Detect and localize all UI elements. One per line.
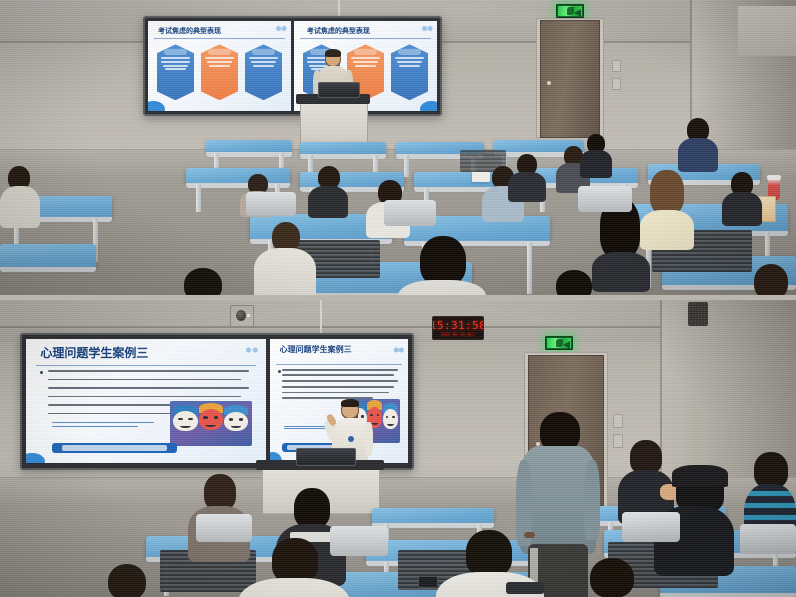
slide-screen-left-top[interactable]: 考试焦虑的典型表现 [148, 21, 291, 111]
desk-bottom-row1-a[interactable] [372, 508, 494, 524]
slide-title-right-bottom: 心理问题学生案例三 [280, 344, 352, 355]
chair-back-bottom-d [740, 524, 796, 554]
student-top-13 [722, 172, 762, 224]
phone-on-desk[interactable] [418, 576, 438, 588]
wall-outlet-2-top [612, 78, 621, 90]
student-top-2 [308, 166, 348, 214]
chair-back-top-b [384, 200, 436, 226]
photo-collage: 考试焦虑的典型表现 [0, 0, 796, 597]
student-top-7 [508, 154, 546, 200]
student-top-11 [640, 170, 694, 244]
classroom-door-top[interactable] [540, 20, 600, 138]
window-panel-top [738, 6, 796, 56]
cta-banner-left [52, 443, 177, 453]
photo-panel-bottom: 15:31:58 2025-06-10 周二 心理问题学生案例三 [0, 300, 796, 597]
hexagon-group-left-top [157, 44, 283, 100]
wall-camera-icon [230, 305, 254, 327]
photo-panel-top: 考试焦虑的典型表现 [0, 0, 796, 297]
student-top-5 [398, 236, 486, 297]
chair-back-top-c [578, 186, 632, 212]
hexagon-physio-left-top [157, 44, 195, 100]
wall-outlet-top [612, 60, 621, 72]
desk-row1-a[interactable] [206, 140, 292, 153]
slide-title-left-bottom: 心理问题学生案例三 [40, 344, 148, 361]
student-bottom-8 [570, 558, 656, 597]
exit-sign-icon-bottom [545, 336, 573, 350]
chair-back-bottom-b [330, 526, 388, 556]
clock-date: 2025-06-10 周二 [441, 333, 476, 337]
masks-illustration-left [170, 401, 252, 446]
podium-monitor-top[interactable] [318, 82, 360, 98]
student-top-14 [0, 166, 40, 226]
student-top-9 [580, 134, 612, 174]
wall-outlet-bottom [613, 414, 623, 428]
exit-sign-icon [556, 4, 584, 18]
student-top-16 [538, 270, 612, 297]
ceiling-speaker-bottom [688, 302, 708, 326]
interactive-display-top[interactable]: 考试焦虑的典型表现 [143, 16, 442, 116]
student-top-17 [744, 264, 796, 297]
digital-wall-clock: 15:31:58 2025-06-10 周二 [432, 316, 484, 340]
case-subnote-left [52, 422, 162, 437]
student-bottom-4 [436, 530, 544, 597]
desk-row2-a[interactable] [186, 168, 290, 184]
student-top-3 [254, 222, 316, 296]
podium-monitor-bottom[interactable] [296, 448, 356, 466]
desk-row4-a[interactable] [0, 244, 96, 268]
student-bottom-9 [92, 564, 162, 597]
clock-time: 15:31:58 [432, 320, 484, 331]
student-top-12 [678, 118, 718, 170]
slide-title-left-top: 考试焦虑的典型表现 [158, 26, 221, 36]
podium-top[interactable] [300, 98, 368, 146]
chair-back-top-a [246, 192, 296, 216]
chair-back-bottom-c [622, 512, 680, 542]
slide-screen-left-bottom[interactable]: 心理问题学生案例三 [26, 339, 266, 463]
student-top-15 [164, 268, 242, 297]
hexagon-behavior-left-top [245, 44, 283, 100]
hexagon-behavior-right-top [391, 44, 429, 100]
slide-title-right-top: 考试焦虑的典型表现 [307, 26, 370, 36]
desk-row1-b[interactable] [300, 142, 386, 155]
chair-back-bottom-a [196, 514, 252, 542]
hexagon-emotion-left-top [201, 44, 239, 100]
